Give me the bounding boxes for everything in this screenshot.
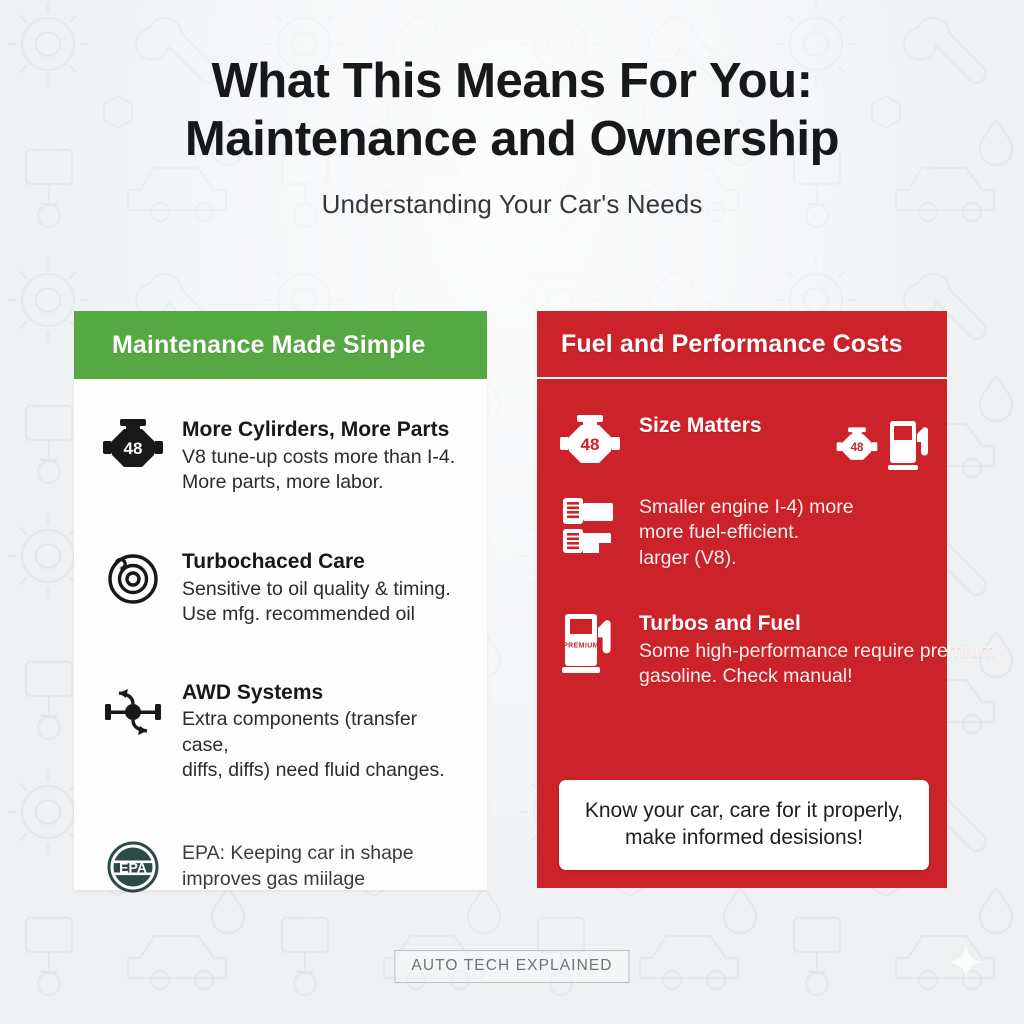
fuel-pump-icon (887, 419, 931, 471)
page-title-line-1: What This Means For You: (211, 54, 812, 108)
list-item-description: Extra components (transfer case, diffs, … (182, 707, 467, 783)
page-title: What This Means For You: Maintenance and… (0, 52, 1024, 169)
list-item-epa: EPA EPA: Keeping car in shape improves g… (102, 841, 467, 893)
engine-48-icon: 48 (559, 413, 621, 469)
list-item-turbocharged-care: Turbochaced Care Sensitive to oil qualit… (102, 549, 467, 627)
list-item-size-matters: 48 Size Matters (559, 413, 929, 469)
fuel-card-header: Fuel and Performance Costs (537, 311, 947, 379)
pump-premium-label: PREMIUM (563, 643, 599, 650)
list-item-title: Turbochaced Care (182, 549, 467, 575)
callout-box: Know your car, care for it properly, mak… (559, 780, 929, 870)
list-item-title: More Cylirders, More Parts (182, 417, 467, 443)
fuel-card-body: 48 Size Matters (537, 379, 947, 888)
turbocharger-icon (102, 549, 164, 607)
engine-48-icon: 48 (102, 417, 164, 473)
maintenance-card-header: Maintenance Made Simple (74, 311, 487, 379)
sparkle-icon (948, 944, 984, 980)
fuel-card: Fuel and Performance Costs (537, 311, 947, 888)
maintenance-card: Maintenance Made Simple (74, 311, 487, 890)
page-subtitle: Understanding Your Car's Needs (0, 189, 1024, 220)
list-item-description: EPA: Keeping car in shape improves gas m… (182, 841, 467, 892)
fuel-pump-premium-icon: PREMIUM (559, 611, 621, 675)
page-title-line-2: Maintenance and Ownership (185, 112, 839, 166)
list-item-awd-systems: AWD Systems Extra components (transfer c… (102, 680, 467, 784)
callout-text: Know your car, care for it properly, mak… (573, 797, 915, 852)
footer-badge: AUTO TECH EXPLAINED (394, 950, 629, 983)
list-item-description: Sensitive to oil quality & timing. Use m… (182, 577, 467, 628)
fuel-card-title: Fuel and Performance Costs (561, 330, 903, 359)
size-matters-extra-icons: 48 (835, 419, 931, 471)
engine-icon-number: 48 (124, 439, 143, 458)
list-item-title: Turbos and Fuel (639, 611, 929, 637)
list-item-description: Some high-performance require premium ga… (639, 639, 1024, 690)
epa-icon-text: EPA (119, 860, 147, 876)
page-header: What This Means For You: Maintenance and… (0, 52, 1024, 220)
list-item-more-cylinders: 48 More Cylirders, More Parts V8 tune-up… (102, 417, 467, 495)
maintenance-card-body: 48 More Cylirders, More Parts V8 tune-up… (74, 379, 487, 890)
epa-badge-icon: EPA (102, 841, 164, 893)
list-item-title: AWD Systems (182, 680, 467, 706)
list-item-turbos-and-fuel: PREMIUM Turbos and Fuel Some high-perfor… (559, 611, 929, 689)
list-item-description: Smaller engine I-4) more more fuel-effic… (639, 495, 929, 571)
engine-48-small-icon: 48 (835, 426, 879, 464)
awd-axle-icon (102, 680, 164, 742)
maintenance-card-title: Maintenance Made Simple (112, 331, 426, 360)
list-item-description: V8 tune-up costs more than I-4. More par… (182, 445, 467, 496)
engine-icon-number: 48 (581, 435, 600, 454)
list-item-smaller-engine: Smaller engine I-4) more more fuel-effic… (559, 495, 929, 571)
engine-blocks-icon (559, 495, 621, 557)
engine-icon-number-small: 48 (851, 442, 864, 454)
footer-badge-text: AUTO TECH EXPLAINED (411, 957, 612, 974)
